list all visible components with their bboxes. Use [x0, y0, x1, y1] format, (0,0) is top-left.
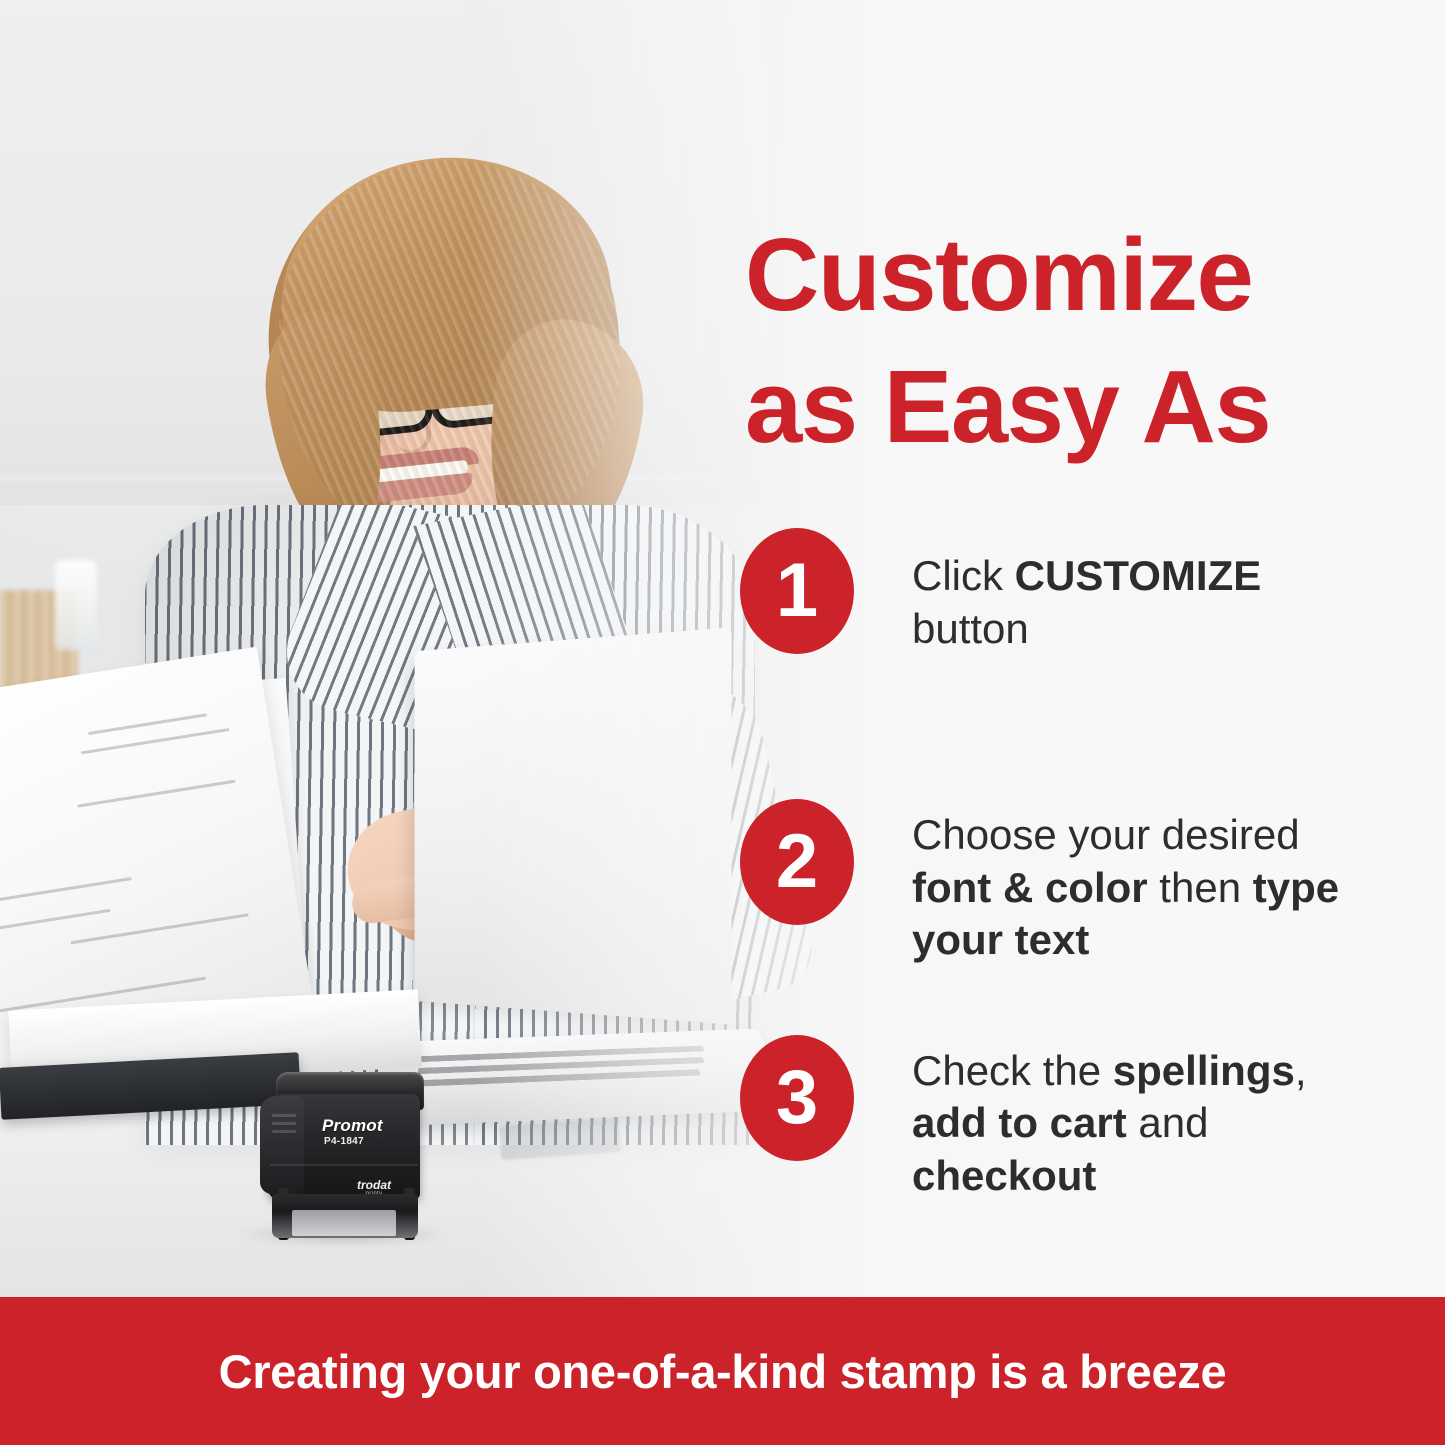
- paper-text-line: [88, 713, 207, 735]
- step-number-badge-3: 3: [740, 1035, 854, 1161]
- step-text-1: Click CUSTOMIZE button: [912, 528, 1372, 655]
- steps-list: 1 Click CUSTOMIZE button 2 Choose your d…: [740, 528, 1380, 990]
- step-item-1: 1 Click CUSTOMIZE button: [740, 528, 1380, 655]
- self-inking-stamp-product: Promot P4-1847 trodat printy: [258, 1060, 428, 1240]
- paper-text-line: [70, 913, 248, 944]
- step-number-badge-1: 1: [740, 528, 854, 654]
- paper-text-line: [0, 909, 110, 931]
- step-text-2: Choose your desired font & color then ty…: [912, 799, 1372, 967]
- stamp-vent-line: [272, 1122, 296, 1125]
- stamp-impression-plate: [292, 1210, 396, 1236]
- stamp-brand-label: Promot: [322, 1116, 414, 1136]
- stamp-divider: [270, 1164, 418, 1166]
- step-text-3: Check the spellings, add to cart and che…: [912, 1035, 1372, 1203]
- page-title: Customize as Easy As: [745, 209, 1365, 473]
- paper-text-line: [0, 877, 132, 902]
- step-item-3: 3 Check the spellings, add to cart and c…: [740, 1035, 1380, 1203]
- step-number-badge-2: 2: [740, 799, 854, 925]
- paper-text-line: [77, 780, 235, 808]
- stamp-manufacturer-label: trodat: [336, 1178, 412, 1192]
- bottom-banner: Creating your one-of-a-kind stamp is a b…: [0, 1297, 1445, 1445]
- headline-line-1: Customize: [745, 217, 1252, 332]
- headline-line-2: as Easy As: [745, 341, 1365, 473]
- stamp-side-wing: [260, 1096, 304, 1194]
- stamp-vent-line: [272, 1130, 296, 1133]
- step-item-2: 2 Choose your desired font & color then …: [740, 799, 1380, 967]
- bottle-object: [55, 560, 97, 650]
- stamp-vent-line: [272, 1114, 296, 1117]
- promo-graphic: Promot P4-1847 trodat printy Customize a…: [0, 0, 1445, 1445]
- stamp-model-number: P4-1847: [324, 1136, 416, 1147]
- banner-tagline: Creating your one-of-a-kind stamp is a b…: [219, 1344, 1227, 1399]
